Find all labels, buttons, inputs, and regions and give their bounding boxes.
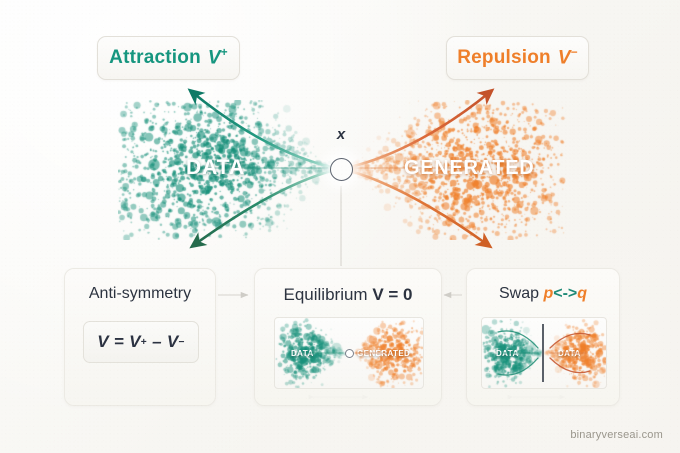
attraction-arrow-lower: [194, 171, 331, 245]
swap-mini-panel: DATA DATA: [481, 317, 607, 389]
repulsion-label-pill: Repulsion V−: [446, 36, 589, 80]
equilibrium-mini-panel: DATA GENERATED: [274, 317, 424, 389]
swap-q-symbol: q: [577, 285, 587, 302]
diagram-canvas: x DATA GENERATED Attraction V+ Repulsion…: [0, 0, 680, 453]
repulsion-arrow-upper: [350, 92, 490, 167]
swap-p-symbol: p: [543, 285, 553, 302]
attraction-label-pill: Attraction V+: [97, 36, 240, 80]
attraction-symbol: V+: [208, 46, 228, 69]
center-point-label: x: [331, 126, 351, 143]
watermark: binaryverseai.com: [570, 429, 663, 441]
swap-arrows-symbol: <->: [553, 285, 577, 302]
repulsion-arrow-lower: [350, 171, 488, 245]
center-point-node: [330, 158, 353, 181]
equilibrium-equation: V = 0: [372, 285, 412, 304]
repulsion-text: Repulsion: [457, 47, 551, 69]
data-cluster-label: DATA: [186, 156, 245, 180]
equilibrium-card: Equilibrium V = 0 DATA GENERATED: [254, 268, 442, 406]
anti-symmetry-card: Anti-symmetry V = V+ – V−: [64, 268, 216, 406]
anti-symmetry-title: Anti-symmetry: [65, 285, 215, 303]
equilibrium-title: Equilibrium V = 0: [255, 285, 441, 305]
equilibrium-mini-spines: [275, 318, 423, 388]
swap-mini-arrows: [482, 318, 606, 388]
swap-title: Swap p<->q: [467, 285, 619, 303]
generated-cluster-label: GENERATED: [404, 157, 534, 180]
anti-symmetry-formula: V = V+ – V−: [83, 321, 199, 363]
repulsion-symbol: V−: [558, 46, 578, 69]
swap-card: Swap p<->q DATA DATA: [466, 268, 620, 406]
attraction-text: Attraction: [109, 47, 201, 69]
